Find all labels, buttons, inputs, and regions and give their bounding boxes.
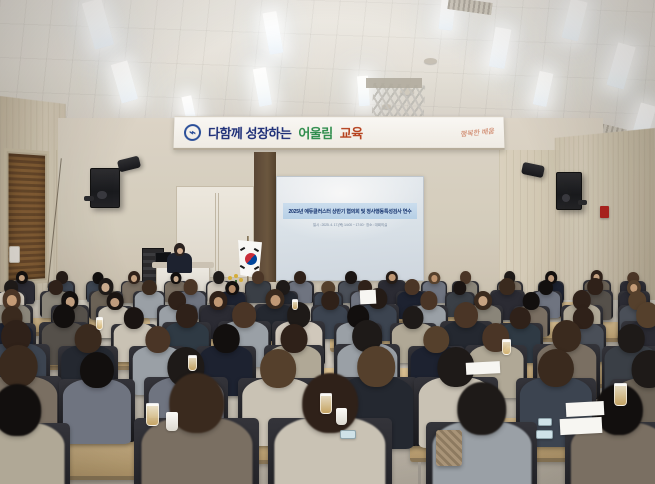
audience-member [274,373,385,484]
table-leg[interactable] [418,462,421,484]
drink-cup[interactable] [96,318,103,330]
audience-head [80,352,114,389]
handout-paper[interactable] [466,361,501,375]
audience-head [618,324,645,353]
drink-cup[interactable] [320,394,332,414]
presenter-body [167,253,192,273]
presenter-face [177,248,183,254]
banner-handwritten-mark: 행복한 배움 [459,126,494,139]
wall-banner: ⌁ 다함께 성장하는 어울림 교육 행복한 배움 [173,116,504,150]
audience-member [141,373,252,484]
banner-text-suffix: 교육 [340,123,363,142]
drink-cup[interactable] [614,384,627,406]
audience-face [7,295,17,305]
audience-head [538,349,574,388]
drink-cup[interactable] [292,300,298,310]
window-frame [4,148,49,286]
school-emblem-icon: ⌁ [184,124,201,141]
banner-text-primary: 다함께 성장하는 [208,123,292,142]
audience-head [552,320,582,352]
slide-title-text: 2025년 에듀클러스터 상반기 협의회 및 정사행동특성검사 연수 [288,208,411,215]
audience-face [389,274,395,281]
paper-cup[interactable] [166,412,178,431]
audience-face [431,275,437,281]
slide-title-bar: 2025년 에듀클러스터 상반기 협의회 및 정사행동특성검사 연수 [283,203,417,219]
audience-head [0,384,41,435]
wall-speaker-left [90,168,120,208]
speaker-bracket-right [578,200,587,205]
slide-subtitle-text: 일시 : 2025. 4. 17.(목) 14:00 ~ 17:00 · 장소 … [277,223,423,228]
smartphone[interactable] [340,430,356,439]
audience-head [0,345,38,387]
paper-cup[interactable] [336,408,347,425]
drink-cup[interactable] [188,356,197,371]
audience-head [632,350,655,388]
audience-head [457,382,506,435]
light-switch[interactable] [9,246,20,263]
audience-face [102,283,110,292]
audience-head [176,304,198,328]
smartphone[interactable] [536,430,553,439]
handout-paper[interactable] [560,417,603,435]
audience-head [500,278,516,295]
handout-paper[interactable] [360,290,377,305]
handout-paper[interactable] [566,401,605,417]
audience-member [0,384,65,484]
projector-ceiling-plate [366,78,422,88]
speaker-bracket-left [84,196,94,201]
banner-text-accent: 어울림 [298,123,332,142]
audience-torso [63,379,131,445]
seminar-room-photo: ⌁ 다함께 성장하는 어울림 교육 행복한 배움 2025년 에듀클러스터 상반… [0,0,655,484]
fire-alarm-icon [600,206,609,218]
handbag[interactable] [436,430,462,466]
drink-cup[interactable] [502,340,511,355]
drink-cup[interactable] [146,404,159,426]
audience-face [110,298,119,307]
audience-head [252,271,264,284]
projection-screen: 2025년 에듀클러스터 상반기 협의회 및 정사행동특성검사 연수 일시 : … [276,176,424,281]
sprinkler-icon [424,58,437,64]
smartphone[interactable] [538,418,552,426]
audience-member [63,352,131,454]
